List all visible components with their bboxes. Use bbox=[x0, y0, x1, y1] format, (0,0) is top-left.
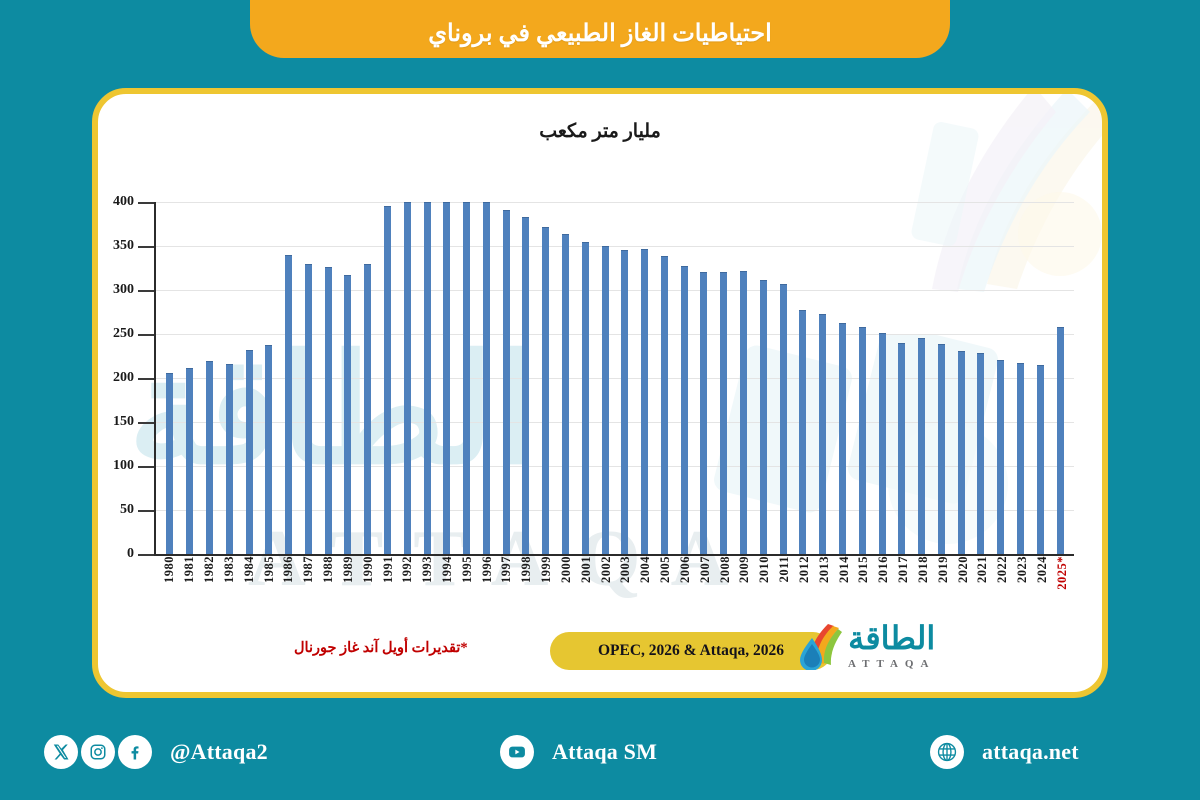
bar[interactable] bbox=[285, 255, 292, 554]
bar-item[interactable] bbox=[615, 202, 635, 554]
source-badge: OPEC, 2026 & Attaqa, 2026 bbox=[550, 632, 832, 670]
bar[interactable] bbox=[839, 323, 846, 554]
bar-item[interactable] bbox=[239, 202, 259, 554]
y-axis-tick bbox=[138, 202, 154, 204]
y-axis-tick-label: 0 bbox=[127, 546, 134, 562]
bar[interactable] bbox=[641, 249, 648, 554]
bar[interactable] bbox=[483, 202, 490, 554]
bar[interactable] bbox=[246, 350, 253, 554]
logo-latin-text: ATTAQA bbox=[848, 658, 935, 670]
bar-item[interactable] bbox=[1050, 202, 1070, 554]
bar[interactable] bbox=[760, 280, 767, 554]
bar[interactable] bbox=[918, 338, 925, 554]
x-axis-tick-label: 1996 bbox=[477, 556, 497, 616]
bar-item[interactable] bbox=[279, 202, 299, 554]
facebook-icon[interactable] bbox=[118, 735, 152, 769]
bar-item[interactable] bbox=[259, 202, 279, 554]
y-axis-tick-label: 250 bbox=[113, 326, 134, 342]
bar[interactable] bbox=[819, 314, 826, 554]
bar[interactable] bbox=[720, 272, 727, 554]
bar-item[interactable] bbox=[833, 202, 853, 554]
x-axis-tick-label: 2018 bbox=[913, 556, 933, 616]
x-axis-tick-label: 2015 bbox=[854, 556, 874, 616]
bar[interactable] bbox=[562, 234, 569, 554]
x-axis-tick-label: 2005 bbox=[656, 556, 676, 616]
bar-item[interactable] bbox=[753, 202, 773, 554]
youtube-label: Attaqa SM bbox=[552, 739, 657, 765]
attaqa-logo: الطاقة ATTAQA bbox=[798, 622, 935, 670]
bar[interactable] bbox=[938, 344, 945, 554]
bar-item[interactable] bbox=[200, 202, 220, 554]
x-axis-tick-label: 2023 bbox=[1013, 556, 1033, 616]
bar[interactable] bbox=[305, 264, 312, 554]
x-axis-tick-label: 2007 bbox=[695, 556, 715, 616]
website-label: attaqa.net bbox=[982, 739, 1079, 765]
bar[interactable] bbox=[166, 373, 173, 554]
bar-item[interactable] bbox=[852, 202, 872, 554]
x-axis-tick-label: 2004 bbox=[636, 556, 656, 616]
x-axis-tick-label: 1980 bbox=[160, 556, 180, 616]
x-axis-tick-label: 1994 bbox=[438, 556, 458, 616]
bar-item[interactable] bbox=[951, 202, 971, 554]
bar-item[interactable] bbox=[971, 202, 991, 554]
x-icon[interactable] bbox=[44, 735, 78, 769]
bar[interactable] bbox=[958, 351, 965, 554]
bar[interactable] bbox=[424, 202, 431, 554]
globe-icon[interactable] bbox=[930, 735, 964, 769]
x-axis-tick-label: 2009 bbox=[735, 556, 755, 616]
x-axis-tick-label: 2020 bbox=[953, 556, 973, 616]
x-axis-tick-label: 1984 bbox=[239, 556, 259, 616]
bar-item[interactable] bbox=[1011, 202, 1031, 554]
x-axis-tick-label: 1989 bbox=[338, 556, 358, 616]
x-axis-tick-label: 1991 bbox=[378, 556, 398, 616]
bar-item[interactable] bbox=[417, 202, 437, 554]
bar[interactable] bbox=[661, 256, 668, 554]
bar[interactable] bbox=[681, 266, 688, 554]
bar[interactable] bbox=[700, 272, 707, 554]
bar[interactable] bbox=[344, 275, 351, 554]
bar[interactable] bbox=[740, 271, 747, 554]
bar[interactable] bbox=[582, 242, 589, 554]
bar-item[interactable] bbox=[694, 202, 714, 554]
footer-website-group: attaqa.net bbox=[930, 735, 1079, 769]
footer-social-group: @Attaqa2 bbox=[44, 735, 268, 769]
x-axis-tick-label: 1998 bbox=[517, 556, 537, 616]
bar-item[interactable] bbox=[635, 202, 655, 554]
x-axis-tick-label: 1983 bbox=[219, 556, 239, 616]
bar[interactable] bbox=[997, 360, 1004, 554]
x-axis-tick-label: 1988 bbox=[319, 556, 339, 616]
bar-item[interactable] bbox=[219, 202, 239, 554]
youtube-icon[interactable] bbox=[500, 735, 534, 769]
bar-item[interactable] bbox=[872, 202, 892, 554]
x-axis-tick-label: 1999 bbox=[537, 556, 557, 616]
header-title-pill: احتياطيات الغاز الطبيعي في بروناي bbox=[250, 0, 950, 58]
infographic-page: احتياطيات الغاز الطبيعي في بروناي الطاقة… bbox=[0, 0, 1200, 800]
y-axis-tick bbox=[138, 466, 154, 468]
x-axis-tick-label: 2011 bbox=[775, 556, 795, 616]
y-axis-tick bbox=[138, 334, 154, 336]
y-axis-tick-label: 150 bbox=[113, 414, 134, 430]
plot-area: 050100150200250300350400 bbox=[154, 202, 1074, 554]
bar[interactable] bbox=[1057, 327, 1064, 554]
y-axis-tick bbox=[138, 422, 154, 424]
flame-drop-icon bbox=[798, 622, 842, 670]
bar[interactable] bbox=[799, 310, 806, 554]
x-axis-tick-label: 2006 bbox=[676, 556, 696, 616]
bar[interactable] bbox=[364, 264, 371, 554]
bar-item[interactable] bbox=[536, 202, 556, 554]
bar[interactable] bbox=[226, 364, 233, 554]
x-axis-tick-label: 2016 bbox=[874, 556, 894, 616]
bar[interactable] bbox=[206, 361, 213, 554]
bar-item[interactable] bbox=[991, 202, 1011, 554]
x-axis-tick-label: 2025* bbox=[1052, 556, 1072, 616]
y-axis-tick-label: 100 bbox=[113, 458, 134, 474]
x-axis-tick-label: 1997 bbox=[497, 556, 517, 616]
x-axis-tick-label: 2010 bbox=[755, 556, 775, 616]
bar-item[interactable] bbox=[813, 202, 833, 554]
bar-item[interactable] bbox=[496, 202, 516, 554]
bar-item[interactable] bbox=[477, 202, 497, 554]
bar[interactable] bbox=[1037, 365, 1044, 554]
x-axis-tick-label: 2024 bbox=[1032, 556, 1052, 616]
x-axis-tick-label: 1986 bbox=[279, 556, 299, 616]
bar-item[interactable] bbox=[931, 202, 951, 554]
x-axis-tick-label: 2000 bbox=[557, 556, 577, 616]
bar-item[interactable] bbox=[338, 202, 358, 554]
bar[interactable] bbox=[265, 345, 272, 554]
bar[interactable] bbox=[503, 210, 510, 554]
y-axis-tick-label: 200 bbox=[113, 370, 134, 386]
x-axis-tick-label: 2017 bbox=[894, 556, 914, 616]
bar-item[interactable] bbox=[318, 202, 338, 554]
x-axis-labels: 1980198119821983198419851986198719881989… bbox=[156, 556, 1076, 616]
bar-item[interactable] bbox=[397, 202, 417, 554]
chart-subtitle: مليار متر مكعب bbox=[98, 120, 1102, 143]
bar-item[interactable] bbox=[1030, 202, 1050, 554]
bar[interactable] bbox=[1017, 363, 1024, 554]
bar-item[interactable] bbox=[516, 202, 536, 554]
bar-item[interactable] bbox=[378, 202, 398, 554]
x-axis-tick-label: 2008 bbox=[715, 556, 735, 616]
bar-item[interactable] bbox=[793, 202, 813, 554]
x-axis-tick-label: 2002 bbox=[596, 556, 616, 616]
bar[interactable] bbox=[879, 333, 886, 554]
x-axis-tick-label: 1990 bbox=[358, 556, 378, 616]
bar-item[interactable] bbox=[457, 202, 477, 554]
bar-item[interactable] bbox=[595, 202, 615, 554]
bar-item[interactable] bbox=[655, 202, 675, 554]
bar-item[interactable] bbox=[298, 202, 318, 554]
bar-item[interactable] bbox=[575, 202, 595, 554]
page-title: احتياطيات الغاز الطبيعي في بروناي bbox=[428, 19, 772, 48]
bar[interactable] bbox=[186, 368, 193, 554]
bar[interactable] bbox=[542, 227, 549, 554]
bar-item[interactable] bbox=[556, 202, 576, 554]
instagram-icon[interactable] bbox=[81, 735, 115, 769]
bar-item[interactable] bbox=[160, 202, 180, 554]
bar[interactable] bbox=[443, 202, 450, 554]
x-axis-tick-label: 1987 bbox=[299, 556, 319, 616]
bar-item[interactable] bbox=[892, 202, 912, 554]
x-axis-tick-label: 2012 bbox=[795, 556, 815, 616]
x-axis-tick-label: 2013 bbox=[814, 556, 834, 616]
footer-bar: @Attaqa2 Attaqa SM attaqa bbox=[0, 704, 1200, 800]
x-axis-tick-label: 2021 bbox=[973, 556, 993, 616]
bar[interactable] bbox=[780, 284, 787, 554]
y-axis-tick-label: 350 bbox=[113, 238, 134, 254]
x-axis-tick-label: 1981 bbox=[180, 556, 200, 616]
source-label: OPEC, 2026 & Attaqa, 2026 bbox=[598, 642, 784, 660]
bar[interactable] bbox=[977, 353, 984, 554]
logo-arabic-text: الطاقة bbox=[848, 622, 935, 656]
bar-item[interactable] bbox=[773, 202, 793, 554]
x-axis-tick-label: 2001 bbox=[576, 556, 596, 616]
chart-card: الطاقة ATTAQA مليار متر مكعب 05010015020… bbox=[92, 88, 1108, 698]
x-axis-tick-label: 1985 bbox=[259, 556, 279, 616]
x-axis-tick-label: 1982 bbox=[200, 556, 220, 616]
y-axis-tick bbox=[138, 290, 154, 292]
x-axis-tick-label: 2003 bbox=[616, 556, 636, 616]
y-axis-tick-label: 300 bbox=[113, 282, 134, 298]
y-axis-tick bbox=[138, 554, 154, 556]
bar[interactable] bbox=[463, 202, 470, 554]
bar[interactable] bbox=[404, 202, 411, 554]
bar-item[interactable] bbox=[358, 202, 378, 554]
bar-item[interactable] bbox=[437, 202, 457, 554]
bar[interactable] bbox=[384, 206, 391, 554]
y-axis-tick-label: 400 bbox=[113, 194, 134, 210]
bar-item[interactable] bbox=[734, 202, 754, 554]
bar[interactable] bbox=[602, 246, 609, 554]
x-axis-tick-label: 1992 bbox=[398, 556, 418, 616]
bar-item[interactable] bbox=[674, 202, 694, 554]
social-icon-row bbox=[44, 735, 152, 769]
x-axis-tick-label: 2014 bbox=[834, 556, 854, 616]
y-axis-tick bbox=[138, 246, 154, 248]
bar-item[interactable] bbox=[180, 202, 200, 554]
x-axis-tick-label: 2019 bbox=[933, 556, 953, 616]
bar-series bbox=[156, 202, 1074, 554]
x-axis-tick-label: 1993 bbox=[418, 556, 438, 616]
bar[interactable] bbox=[522, 217, 529, 554]
x-axis-tick-label: 2022 bbox=[993, 556, 1013, 616]
bar[interactable] bbox=[859, 327, 866, 554]
y-axis-tick bbox=[138, 510, 154, 512]
bar[interactable] bbox=[325, 267, 332, 554]
estimate-footnote: *تقديرات أويل آند غاز جورنال bbox=[294, 640, 468, 657]
x-axis-tick-label: 1995 bbox=[457, 556, 477, 616]
footer-youtube-group: Attaqa SM bbox=[500, 735, 657, 769]
bar[interactable] bbox=[898, 343, 905, 554]
bar-item[interactable] bbox=[912, 202, 932, 554]
y-axis-tick-label: 50 bbox=[120, 502, 134, 518]
bar[interactable] bbox=[621, 250, 628, 554]
y-axis-tick bbox=[138, 378, 154, 380]
bar-item[interactable] bbox=[714, 202, 734, 554]
social-handle-label: @Attaqa2 bbox=[170, 739, 268, 765]
